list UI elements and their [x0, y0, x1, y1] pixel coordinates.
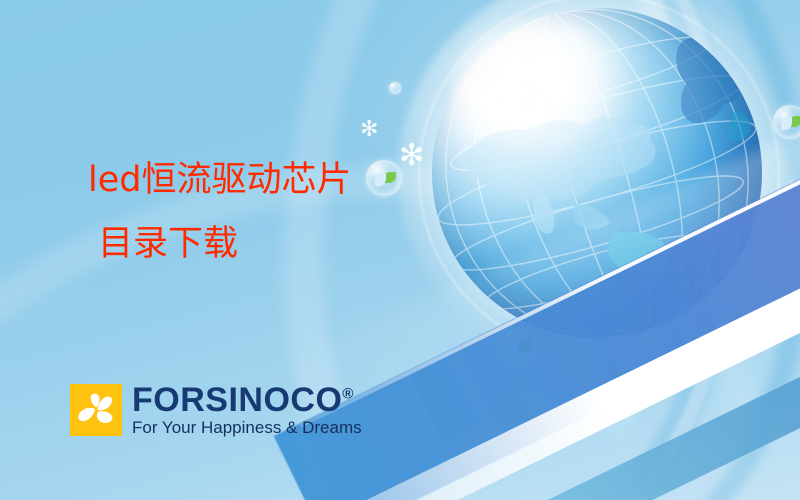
leaf-shape-pale: [507, 341, 519, 356]
starburst-icon-large: ✻: [399, 141, 424, 171]
headline-line-1: led恒流驱动芯片: [88, 163, 351, 198]
registered-trademark-icon: ®: [342, 386, 354, 403]
leaf-shape-pale: [375, 173, 386, 186]
leaf-shape-green: [789, 116, 800, 127]
bubble-icon-top-right: [773, 105, 800, 139]
globe-sphere: [432, 8, 762, 338]
globe-glow: [398, 0, 796, 372]
skyline-svg: [690, 170, 800, 310]
globe-grid-svg: [432, 8, 762, 338]
brand-logo: FORSINOCO® For Your Happiness & Dreams: [70, 384, 362, 437]
globe-graphic: [432, 8, 762, 338]
globe-continents: [460, 14, 751, 292]
headline-line-2: 目录下载: [98, 227, 351, 262]
brand-name: FORSINOCO®: [132, 384, 362, 416]
leaf-shape-pale: [781, 117, 792, 130]
headline-block: led恒流驱动芯片 目录下载: [88, 163, 351, 262]
globe-highlight: [452, 18, 632, 158]
swoosh-white-line: [299, 91, 800, 428]
bubble-icon-tiny: [389, 82, 401, 94]
starburst-icon-small: ✻: [360, 118, 378, 140]
bubble-icon-center: [497, 327, 537, 367]
pinwheel-flower-icon: [70, 384, 122, 436]
swoosh-band-teal: [420, 255, 800, 500]
city-skyline-icon: [690, 170, 800, 310]
swoosh-band-blue: [274, 103, 800, 500]
swoosh-band-white: [321, 189, 800, 500]
globe-grid-lines: [432, 8, 762, 338]
promo-banner: ✻ ✻ led恒流驱动芯片 目录下载: [0, 0, 800, 500]
globe-outer-ring: [418, 0, 780, 356]
leaf-shape-green: [516, 340, 530, 352]
bubble-icon-upper: [366, 160, 402, 196]
brand-text-block: FORSINOCO® For Your Happiness & Dreams: [132, 384, 362, 437]
pinwheel-flower-svg: [70, 384, 122, 436]
brand-name-text: FORSINOCO: [132, 381, 342, 419]
leaf-shape-green: [383, 172, 396, 183]
brand-tagline: For Your Happiness & Dreams: [132, 419, 362, 437]
